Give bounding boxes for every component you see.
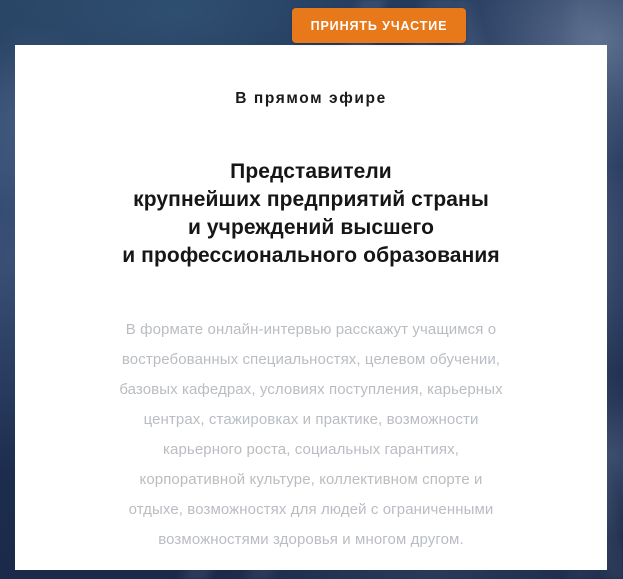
page-title: Представители крупнейших предприятий стр…: [59, 109, 563, 270]
participate-button[interactable]: ПРИНЯТЬ УЧАСТИЕ: [292, 8, 466, 43]
description-line-2: востребованных специальностях, целевом о…: [59, 345, 563, 375]
headline-line-3: и учреждений высшего: [59, 214, 563, 242]
description-line-5: карьерного роста, социальных гарантиях,: [59, 435, 563, 465]
headline-line-1: Представители: [59, 158, 563, 186]
description-paragraph: В формате онлайн-интервью расскажут учащ…: [59, 270, 563, 555]
description-line-4: центрах, стажировках и практике, возможн…: [59, 405, 563, 435]
description-line-7: отдыхе, возможностях для людей с огранич…: [59, 495, 563, 525]
description-line-6: корпоративной культуре, коллективном спо…: [59, 465, 563, 495]
headline-line-2: крупнейших предприятий страны: [59, 186, 563, 214]
headline-line-4: и профессионального образования: [59, 242, 563, 270]
description-line-8: возможностями здоровья и многом другом.: [59, 525, 563, 555]
content-card: В прямом эфире Представители крупнейших …: [15, 45, 607, 570]
description-line-3: базовых кафедрах, условиях поступления, …: [59, 375, 563, 405]
description-line-1: В формате онлайн-интервью расскажут учащ…: [59, 315, 563, 345]
page-stage: ПРИНЯТЬ УЧАСТИЕ В прямом эфире Представи…: [0, 0, 623, 579]
live-broadcast-eyebrow: В прямом эфире: [59, 45, 563, 109]
